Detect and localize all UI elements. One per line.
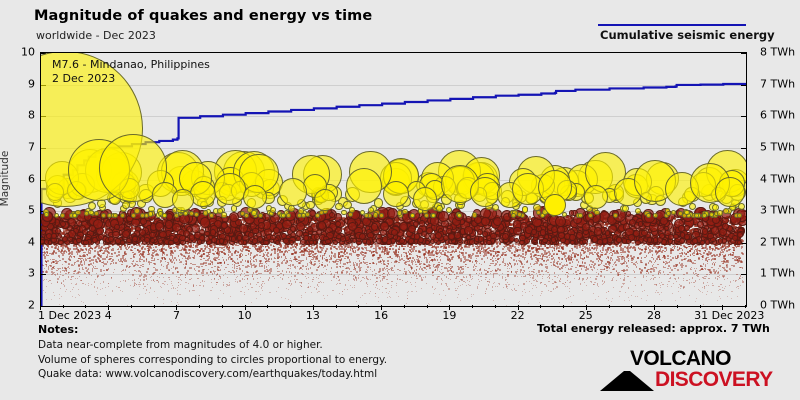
x-axis-minor-tick [472,305,473,308]
x-axis-minor-tick [677,305,678,308]
x-axis-minor-tick [131,305,132,308]
x-axis-minor-tick [700,305,701,308]
x-axis-tick-label: 16 [374,309,388,322]
volcanodiscovery-logo[interactable]: VOLCANO DISCOVERY [600,347,765,391]
x-axis-minor-tick [199,305,200,308]
x-axis-minor-tick [495,305,496,308]
note-line-2: Volume of spheres corresponding to circl… [38,353,387,368]
x-axis-minor-tick [427,305,428,308]
x-axis-minor-tick [290,305,291,308]
x-axis-tick-label: 19 [442,309,456,322]
x-axis-tick-label: 1 Dec 2023 [38,309,101,322]
x-axis-tick-label: 25 [579,309,593,322]
x-axis-minor-tick [609,305,610,308]
legend-line-swatch [598,24,746,26]
x-axis-tick-label: 31 Dec 2023 [694,309,764,322]
y-axis-tick-label: 9 [28,77,35,90]
y2-axis-tick-mark [741,85,746,86]
y-axis-label: Magnitude [0,52,12,305]
y2-axis-tick-mark [741,116,746,117]
x-axis-minor-tick [63,305,64,308]
x-axis-minor-tick [336,305,337,308]
y-axis-tick-label: 7 [28,140,35,153]
volcano-silhouette-icon [600,369,662,391]
x-axis-minor-tick [563,305,564,308]
x-axis-minor-tick [631,305,632,308]
y2-axis-tick-label: 7 TWh [760,77,795,90]
x-axis-tick-label: 7 [173,309,180,322]
y-axis-tick-label: 10 [21,46,35,59]
x-axis-tick-label: 10 [238,309,252,322]
x-axis-minor-tick [745,305,746,308]
x-axis-minor-tick [358,305,359,308]
notes-block: Notes: Data near-complete from magnitude… [38,323,387,382]
y2-axis-tick-mark [741,148,746,149]
y-axis-tick-label: 2 [28,299,35,312]
y-axis-tick-label: 3 [28,267,35,280]
x-axis-minor-tick [85,305,86,308]
peak-quake-annotation: M7.6 - Mindanao, Philippines 2 Dec 2023 [52,58,210,86]
x-axis-minor-tick [267,305,268,308]
note-line-3[interactable]: Quake data: www.volcanodiscovery.com/ear… [38,367,387,382]
x-axis-tick-label: 4 [105,309,112,322]
y-axis-tick-label: 5 [28,204,35,217]
y2-axis-tick-mark [741,274,746,275]
note-line-1: Data near-complete from magnitudes of 4.… [38,338,387,353]
x-axis-minor-tick [154,305,155,308]
total-energy-label: Total energy released: approx. 7 TWh [537,322,770,335]
y2-axis-tick-label: 4 TWh [760,172,795,185]
plot-area [40,52,747,307]
y-axis-tick-mark [41,306,46,307]
y2-axis-tick-label: 1 TWh [760,267,795,280]
y2-axis-tick-label: 0 TWh [760,299,795,312]
y2-axis-tick-label: 8 TWh [760,46,795,59]
chart-title: Magnitude of quakes and energy vs time [34,8,372,24]
y2-axis-tick-mark [741,53,746,54]
notes-header: Notes: [38,323,387,336]
y-axis-tick-label: 8 [28,109,35,122]
chart-subtitle: worldwide - Dec 2023 [36,29,156,42]
x-axis-tick-label: 22 [511,309,525,322]
x-axis-tick-label: 28 [647,309,661,322]
y-axis-tick-label: 4 [28,235,35,248]
annotation-line-1: M7.6 - Mindanao, Philippines [52,58,210,72]
annotation-line-2: 2 Dec 2023 [52,72,210,86]
y2-axis-tick-label: 3 TWh [760,204,795,217]
y2-axis-tick-label: 2 TWh [760,235,795,248]
y-axis-tick-label: 6 [28,172,35,185]
y-axis-tick-mark [41,274,46,275]
x-axis-tick-label: 13 [306,309,320,322]
x-axis-minor-tick [540,305,541,308]
logo-text-secondary: DISCOVERY [655,368,773,392]
y2-axis-tick-label: 6 TWh [760,109,795,122]
x-axis-minor-tick [222,305,223,308]
y2-axis-tick-label: 5 TWh [760,140,795,153]
legend-label: Cumulative seismic energy [600,28,775,42]
x-axis-minor-tick [404,305,405,308]
